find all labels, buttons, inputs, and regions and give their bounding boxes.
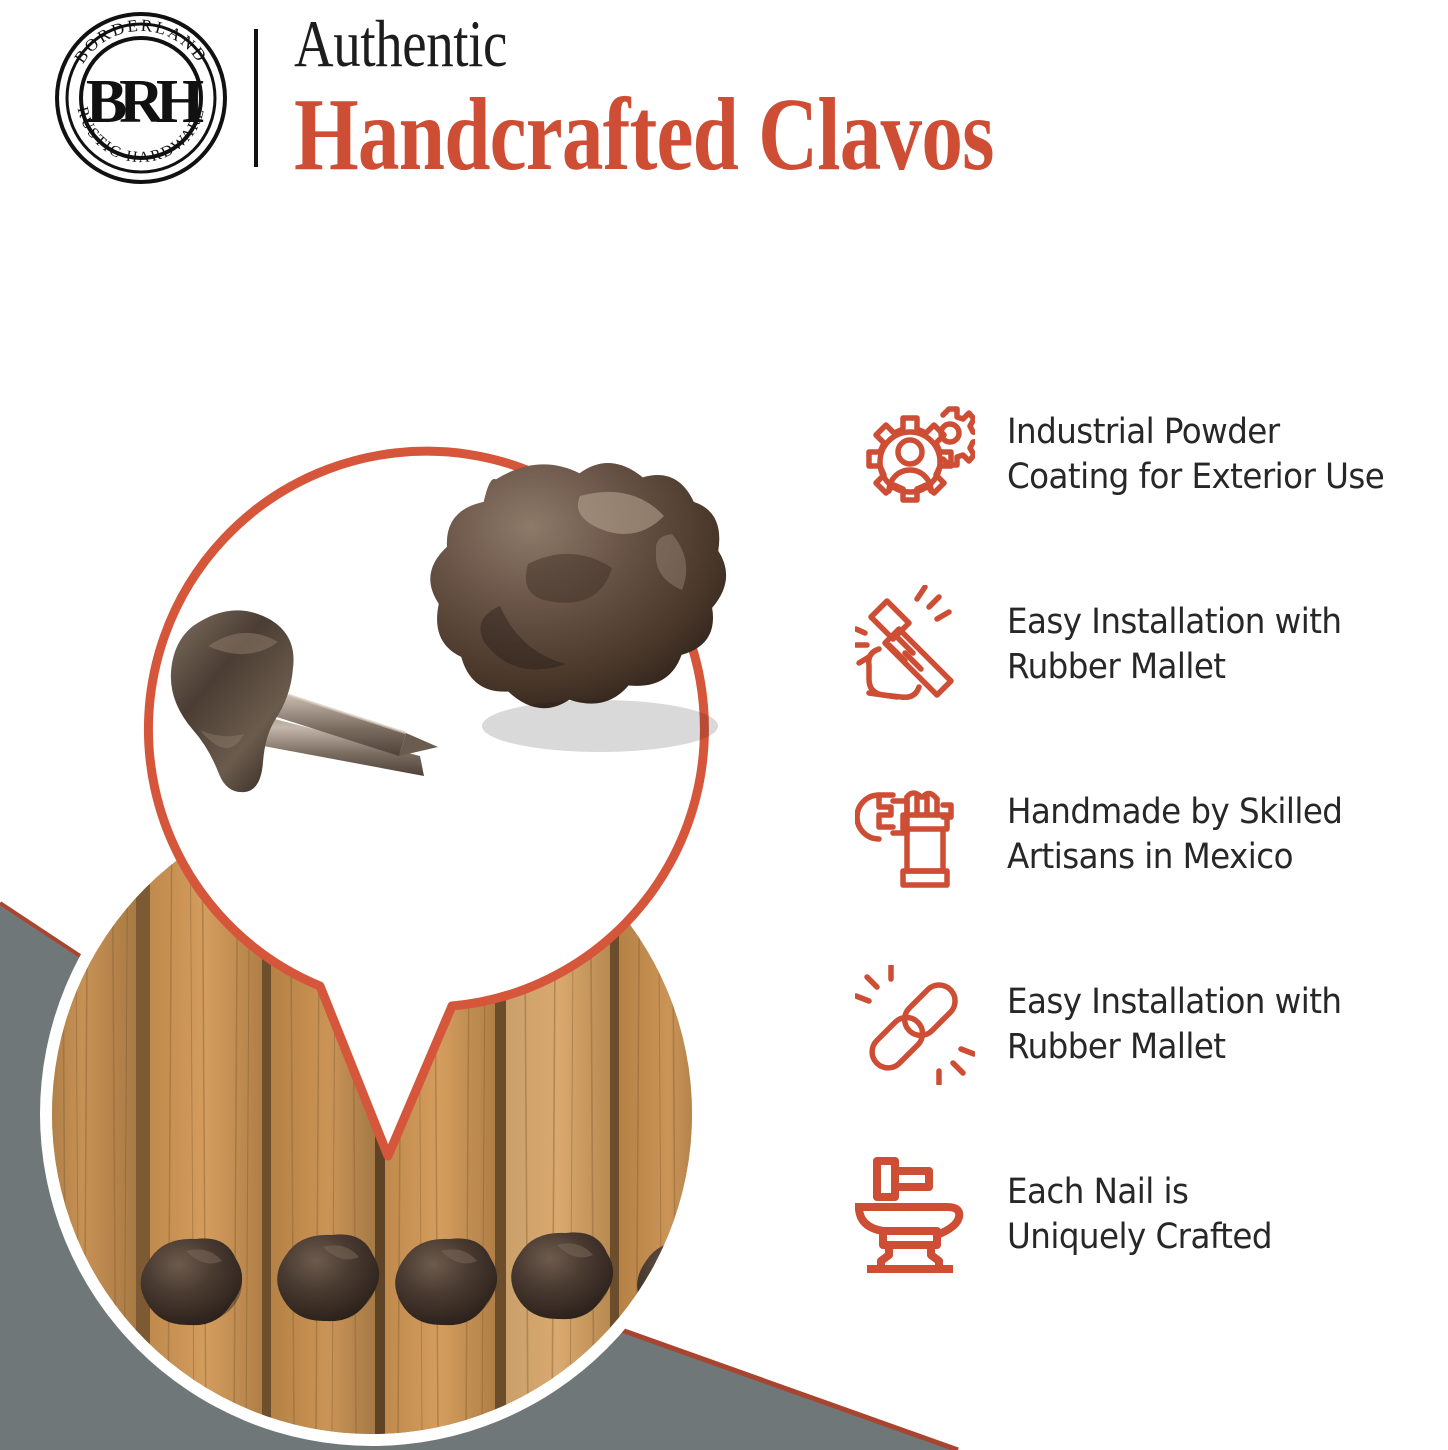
product-visual bbox=[0, 196, 830, 1450]
brand-logo-icon: BORDERLAND RUSTIC HARDWARE BRH bbox=[53, 10, 229, 186]
feature-list: Industrial Powder Coating for Exterior U… bbox=[855, 360, 1448, 1310]
product-visual-svg bbox=[0, 196, 830, 1450]
feature-label: Each Nail is Uniquely Crafted bbox=[1007, 1170, 1272, 1260]
feature-row[interactable]: Each Nail is Uniquely Crafted bbox=[855, 1120, 1448, 1310]
svg-text:BRH: BRH bbox=[86, 68, 204, 136]
feature-label: Industrial Powder Coating for Exterior U… bbox=[1007, 410, 1384, 500]
hand-mallet-icon bbox=[855, 585, 975, 705]
feature-label: Handmade by Skilled Artisans in Mexico bbox=[1007, 790, 1342, 880]
feature-label: Easy Installation with Rubber Mallet bbox=[1007, 600, 1341, 690]
hand-wrench-icon bbox=[855, 775, 975, 895]
header: BORDERLAND RUSTIC HARDWARE BRH Authentic… bbox=[0, 0, 1448, 196]
gear-person-icon bbox=[855, 395, 975, 515]
chain-link-icon bbox=[855, 965, 975, 1085]
feature-row[interactable]: Industrial Powder Coating for Exterior U… bbox=[855, 360, 1448, 550]
feature-row[interactable]: Easy Installation with Rubber Mallet bbox=[855, 550, 1448, 740]
feature-label: Easy Installation with Rubber Mallet bbox=[1007, 980, 1341, 1070]
page-title: Handcrafted Clavos bbox=[294, 82, 1217, 188]
page-eyebrow: Authentic bbox=[294, 12, 1240, 76]
header-title-block: Authentic Handcrafted Clavos bbox=[294, 8, 1448, 188]
brand-logo[interactable]: BORDERLAND RUSTIC HARDWARE BRH bbox=[46, 10, 236, 186]
header-divider bbox=[254, 29, 258, 167]
feature-row[interactable]: Easy Installation with Rubber Mallet bbox=[855, 930, 1448, 1120]
feature-row[interactable]: Handmade by Skilled Artisans in Mexico bbox=[855, 740, 1448, 930]
anvil-hammer-icon bbox=[855, 1155, 975, 1275]
